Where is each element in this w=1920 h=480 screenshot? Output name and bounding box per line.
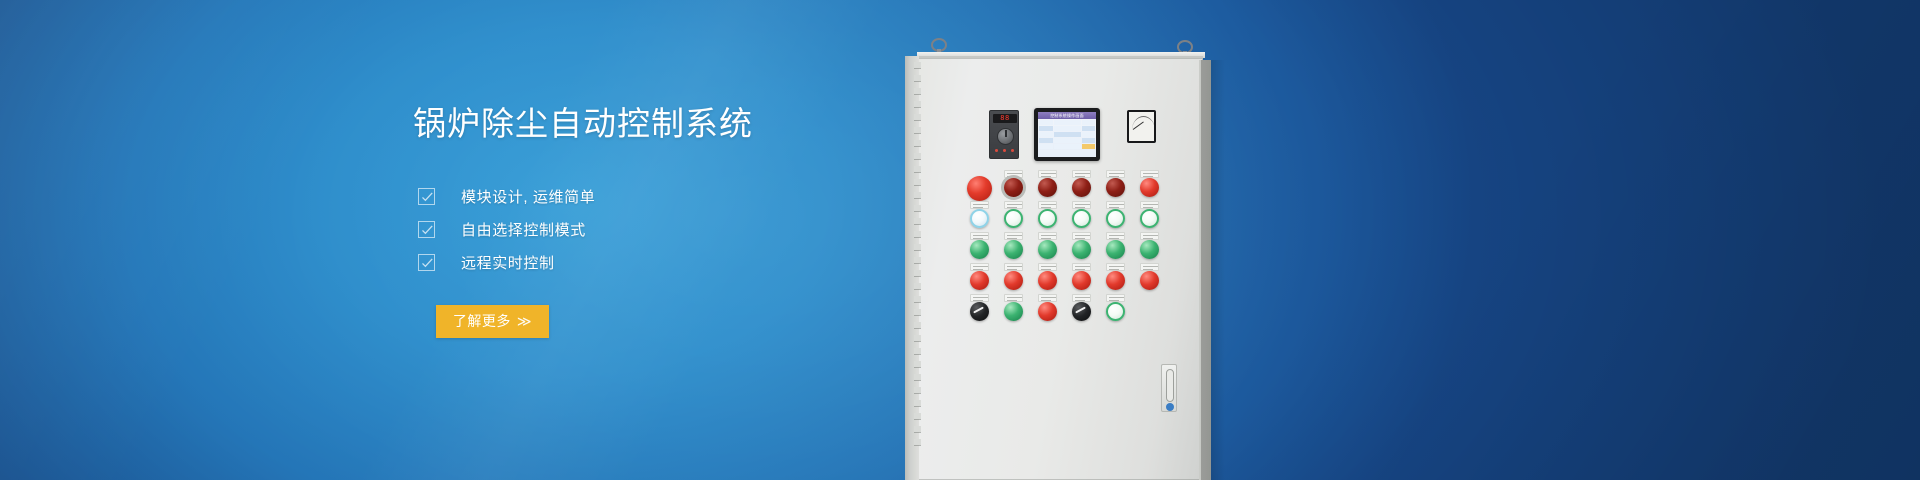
indicator-lamp[interactable] xyxy=(963,201,997,232)
indicator-lamp[interactable] xyxy=(963,232,997,263)
handle-bar xyxy=(1166,369,1174,402)
indicator-lamp[interactable] xyxy=(1099,294,1133,325)
analog-panel-meter xyxy=(1127,110,1156,143)
feature-list: 模块设计, 运维简单 自由选择控制模式 远程实时控制 xyxy=(413,180,933,279)
checkbox-checked-icon xyxy=(418,254,435,271)
feature-label: 模块设计, 运维简单 xyxy=(461,186,595,207)
checkbox-checked-icon xyxy=(418,188,435,205)
indicator-lamp[interactable] xyxy=(997,201,1031,232)
learn-more-button[interactable]: 了解更多 ≫ xyxy=(436,305,549,338)
lock-icon[interactable] xyxy=(1166,403,1174,411)
double-chevron-right-icon: ≫ xyxy=(517,314,532,328)
digital-display-module: 88 xyxy=(989,110,1019,159)
indicator-lamp[interactable] xyxy=(1031,201,1065,232)
lamp-row xyxy=(963,232,1173,263)
lamp-row xyxy=(963,201,1173,232)
indicator-lamp[interactable] xyxy=(1099,263,1133,294)
indicator-lamp[interactable] xyxy=(1065,263,1099,294)
indicator-lamp[interactable] xyxy=(1031,170,1065,201)
lamp-row xyxy=(963,263,1173,294)
indicator-dot-icon xyxy=(995,149,998,152)
door-handle[interactable] xyxy=(1161,364,1177,412)
hmi-title-bar: 控制系统操作画面 xyxy=(1038,112,1096,119)
learn-more-label: 了解更多 xyxy=(453,311,511,331)
selector-switch[interactable] xyxy=(1065,294,1099,325)
list-item: 自由选择控制模式 xyxy=(413,213,933,246)
indicator-lamp[interactable] xyxy=(1133,170,1167,201)
cabinet-drop-shadow xyxy=(1201,60,1225,480)
indicator-lamp[interactable] xyxy=(1099,170,1133,201)
hmi-data-grid xyxy=(1038,119,1096,157)
digital-readout: 88 xyxy=(993,114,1017,123)
indicator-lamp[interactable] xyxy=(997,294,1031,325)
cabinet-door-panel: 88 控制系统操作画面 xyxy=(917,56,1203,480)
emergency-stop-button[interactable] xyxy=(963,170,997,201)
checkbox-checked-icon xyxy=(418,221,435,238)
rotary-knob-icon[interactable] xyxy=(997,128,1014,145)
indicator-lamp[interactable] xyxy=(1099,232,1133,263)
lamp-row xyxy=(963,294,1173,325)
list-item: 模块设计, 运维简单 xyxy=(413,180,933,213)
page-title: 锅炉除尘自动控制系统 xyxy=(413,104,933,144)
indicator-lamp[interactable] xyxy=(1031,232,1065,263)
indicator-lamp[interactable] xyxy=(1133,263,1167,294)
indicator-lamp[interactable] xyxy=(1133,232,1167,263)
hmi-touchscreen[interactable]: 控制系统操作画面 xyxy=(1034,108,1100,161)
indicator-lamp[interactable] xyxy=(1065,232,1099,263)
indicator-lamp[interactable] xyxy=(1031,294,1065,325)
indicator-lamp[interactable] xyxy=(997,263,1031,294)
indicator-lamp[interactable] xyxy=(1065,170,1099,201)
lamp-row xyxy=(963,170,1173,201)
indicator-lamp[interactable] xyxy=(1099,201,1133,232)
indicator-dot-icon xyxy=(1011,149,1014,152)
control-cabinet-image: 88 控制系统操作画面 xyxy=(905,0,1225,480)
selector-switch[interactable] xyxy=(963,294,997,325)
indicator-lamp[interactable] xyxy=(1065,201,1099,232)
cabinet-hinges xyxy=(914,62,921,472)
feature-label: 远程实时控制 xyxy=(461,252,555,273)
hero-banner: 锅炉除尘自动控制系统 模块设计, 运维简单 自由选择控制模式 xyxy=(0,0,1920,480)
indicator-lamp[interactable] xyxy=(1133,201,1167,232)
feature-label: 自由选择控制模式 xyxy=(461,219,586,240)
indicator-lamp[interactable] xyxy=(997,232,1031,263)
indicator-dot-icon xyxy=(1003,149,1006,152)
indicator-lamp-grid xyxy=(963,170,1173,325)
indicator-lamp[interactable] xyxy=(963,263,997,294)
list-item: 远程实时控制 xyxy=(413,246,933,279)
indicator-lamp[interactable] xyxy=(997,170,1031,201)
hero-copy-block: 锅炉除尘自动控制系统 模块设计, 运维简单 自由选择控制模式 xyxy=(413,104,933,338)
indicator-lamp[interactable] xyxy=(1031,263,1065,294)
